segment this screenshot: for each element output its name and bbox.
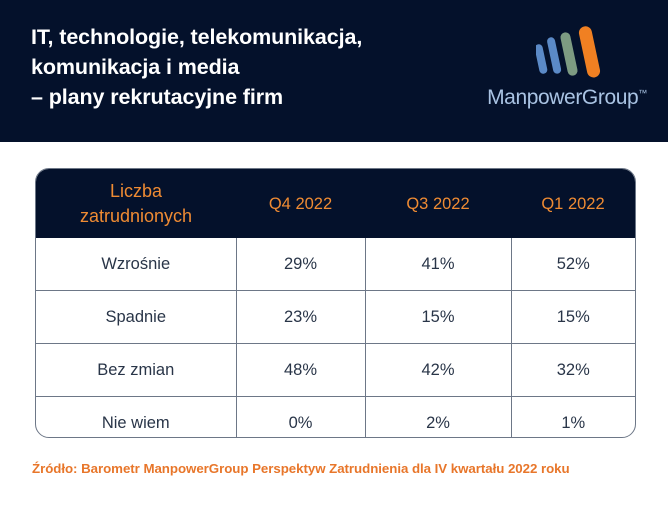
page-title-line-2: komunikacja i media [31, 52, 471, 82]
table-header-row: Liczba zatrudnionych Q4 2022 Q3 2022 Q1 … [36, 169, 635, 238]
column-header-line-1: Liczba [110, 181, 162, 201]
cell-nie-wiem-q1-2022: 1% [511, 397, 635, 439]
cell-spadnie-q1-2022: 15% [511, 291, 635, 344]
row-label-spadnie: Spadnie [36, 291, 236, 344]
table-row: Wzrośnie 29% 41% 52% [36, 238, 635, 291]
cell-bez-zmian-q4-2022: 48% [236, 344, 365, 397]
cell-spadnie-q3-2022: 15% [365, 291, 511, 344]
header-banner: IT, technologie, telekomunikacja, komuni… [0, 0, 668, 142]
page-title-line-3: – plany rekrutacyjne firm [31, 82, 471, 112]
page-title-line-1: IT, technologie, telekomunikacja, [31, 22, 471, 52]
cell-nie-wiem-q3-2022: 2% [365, 397, 511, 439]
column-header-line-2: zatrudnionych [80, 206, 192, 226]
cell-spadnie-q4-2022: 23% [236, 291, 365, 344]
recruitment-plans-table: Liczba zatrudnionych Q4 2022 Q3 2022 Q1 … [35, 168, 636, 438]
cell-nie-wiem-q4-2022: 0% [236, 397, 365, 439]
table-row: Nie wiem 0% 2% 1% [36, 397, 635, 439]
manpowergroup-logo: ManpowerGroup™ [484, 24, 650, 124]
column-header-liczba-zatrudnionych: Liczba zatrudnionych [36, 169, 236, 238]
cell-wzrosnie-q1-2022: 52% [511, 238, 635, 291]
column-header-q4-2022: Q4 2022 [236, 169, 365, 238]
table-row: Spadnie 23% 15% 15% [36, 291, 635, 344]
source-note: Źródło: Barometr ManpowerGroup Perspekty… [32, 461, 570, 476]
manpowergroup-wordmark: ManpowerGroup™ [484, 86, 650, 110]
manpowergroup-mark-icon [536, 24, 606, 80]
table-header: Liczba zatrudnionych Q4 2022 Q3 2022 Q1 … [36, 169, 635, 238]
row-label-bez-zmian: Bez zmian [36, 344, 236, 397]
infographic-page: IT, technologie, telekomunikacja, komuni… [0, 0, 668, 512]
cell-bez-zmian-q3-2022: 42% [365, 344, 511, 397]
table-row: Bez zmian 48% 42% 32% [36, 344, 635, 397]
row-label-nie-wiem: Nie wiem [36, 397, 236, 439]
column-header-q3-2022: Q3 2022 [365, 169, 511, 238]
page-title: IT, technologie, telekomunikacja, komuni… [31, 22, 471, 112]
table-body: Wzrośnie 29% 41% 52% Spadnie 23% 15% 15%… [36, 238, 635, 438]
column-header-q1-2022: Q1 2022 [511, 169, 635, 238]
table: Liczba zatrudnionych Q4 2022 Q3 2022 Q1 … [36, 169, 635, 438]
wordmark-text: ManpowerGroup [487, 86, 638, 109]
trademark-symbol: ™ [638, 88, 647, 98]
row-label-wzrosnie: Wzrośnie [36, 238, 236, 291]
cell-bez-zmian-q1-2022: 32% [511, 344, 635, 397]
cell-wzrosnie-q3-2022: 41% [365, 238, 511, 291]
cell-wzrosnie-q4-2022: 29% [236, 238, 365, 291]
